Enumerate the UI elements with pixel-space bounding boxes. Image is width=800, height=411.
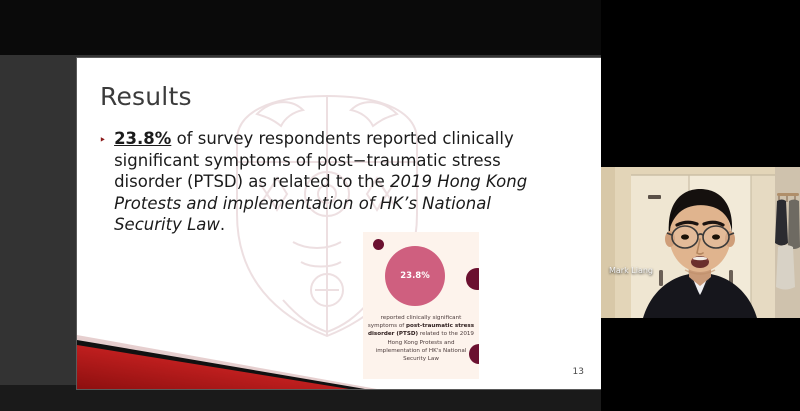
caption-line-3: related to [418, 331, 447, 337]
slide-corner-graphic [77, 327, 377, 389]
slide-bullet: ‣ 23.8% of survey respondents reported c… [99, 128, 529, 236]
presentation-slide[interactable]: Results ‣ 23.8% of survey respondents re… [77, 58, 601, 389]
percentage-value: 23.8% [400, 271, 430, 281]
screen-sharing-meeting-window: Results ‣ 23.8% of survey respondents re… [0, 0, 800, 411]
slide-number: 13 [573, 367, 584, 377]
decorative-dot-icon [373, 239, 384, 250]
body-run-2: . [220, 215, 225, 234]
participant-video-panel[interactable]: Mark Liang [601, 0, 800, 411]
bullet-marker-icon: ‣ [99, 128, 106, 236]
caption-line-1: reported clinically [381, 315, 431, 321]
participant-name-label: Mark Liang [609, 266, 653, 275]
statistic-highlight: 23.8% [114, 129, 171, 148]
slide-title: Results [100, 82, 192, 111]
decorative-dot-icon [466, 268, 479, 290]
participant-video-feed [601, 167, 800, 318]
percentage-circle: 23.8% [385, 246, 445, 306]
slide-body-text: 23.8% of survey respondents reported cli… [114, 128, 529, 236]
infographic-caption: reported clinically significant symptoms… [367, 314, 475, 363]
infographic-card: 23.8% reported clinically significant sy… [363, 232, 479, 379]
top-letterbox-bar [0, 0, 601, 55]
